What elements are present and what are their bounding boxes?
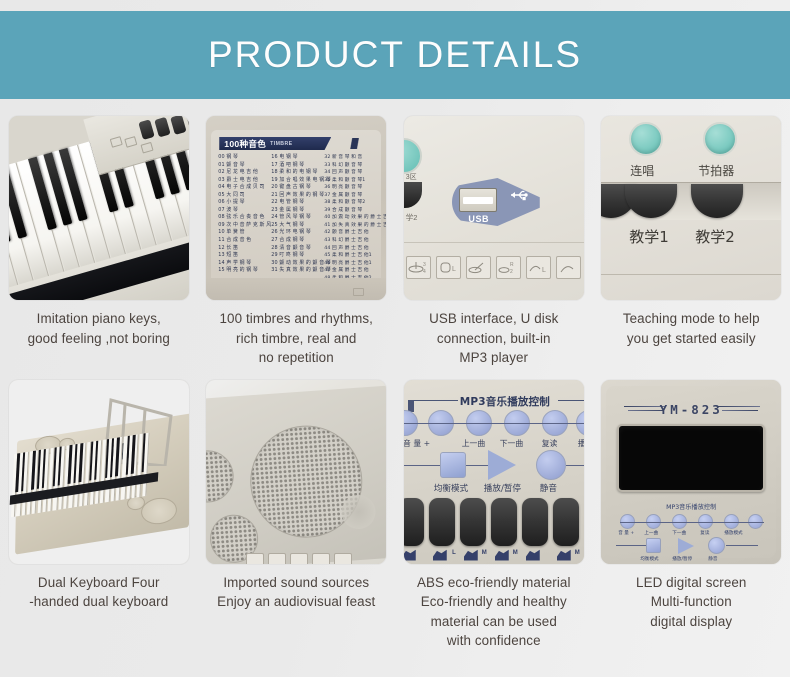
timbre-item: 36 明 亮 颤 音 琴 — [324, 184, 377, 192]
panel-divider — [404, 242, 584, 243]
mp3-eq-button[interactable] — [646, 538, 661, 553]
caption-line: Imitation piano keys, — [6, 309, 192, 329]
instrument-icon-row: 34 L R2 L — [406, 256, 581, 279]
mp3-label-next: 下一曲 — [500, 438, 523, 449]
svg-text:L: L — [542, 267, 546, 274]
detail-card-abs-eco-friendly: MP3音乐播放控制 - 音 量 + 上一曲 下一曲 复读 播 — [395, 380, 593, 651]
detail-card-led-digital-screen: YM-823 MP3音乐播放控制 音 量 + 上一曲 — [593, 380, 790, 651]
mp3-mute-button[interactable] — [708, 537, 725, 554]
svg-text:4: 4 — [423, 269, 426, 275]
timbre-item: 32 新 音 琴 和 音 — [324, 154, 377, 162]
timbre-item: 04 电 子 合 成 贝 司 — [218, 184, 271, 192]
timbre-header-en: TIMBRE — [270, 141, 292, 147]
pad-icon — [404, 548, 426, 563]
instrument-icon: L — [436, 256, 461, 279]
mp3-control-group: 音 量 + 上一曲 下一曲 复读 播放模式 均衡模式 播放/暂停 — [616, 510, 768, 564]
timbre-item: 22 电 管 钢 琴 — [271, 199, 324, 207]
speaker-grille-large — [247, 421, 367, 541]
pad-label-teaching1: 教学1 — [629, 226, 669, 247]
caption-line: rich timbre, real and — [203, 329, 389, 349]
timbre-item: 38 柔 和 颤 音 琴2 — [324, 199, 377, 207]
timbre-item: 28 清 音 颤 音 琴 — [271, 245, 324, 253]
detail-card-imitation-piano-keys: Imitation piano keys, good feeling ,not … — [0, 116, 198, 368]
instrument-icon — [290, 553, 308, 564]
timbre-item: 15 明 亮 的 钢 琴 — [218, 267, 271, 275]
caption-line: Teaching mode to help — [598, 309, 784, 329]
black-pad-row — [404, 498, 579, 546]
panel-icon — [353, 288, 364, 296]
speaker-grille-closeup-photo — [206, 380, 386, 564]
timbre-item: 46 明 亮 爵 士 吉 他1 — [324, 260, 377, 268]
caption-line: connection, built-in — [401, 329, 587, 349]
page-title: PRODUCT DETAILS — [208, 34, 582, 76]
timbre-item: 43 科 幻 爵 士 吉 他 — [324, 237, 377, 245]
black-pad[interactable] — [522, 498, 548, 546]
pad-icon-label: M — [482, 550, 487, 556]
model-number: YM-823 — [606, 402, 776, 417]
mp3-play-pause-button[interactable] — [678, 538, 694, 554]
usb-trident-icon — [508, 188, 530, 202]
mp3-mute-button[interactable] — [536, 450, 566, 480]
detail-card-100-timbres: 100种音色 TIMBRE 00 钢 琴 01 颤 音 琴 02 尼 龙 电 吉… — [198, 116, 396, 368]
product-details-page: PRODUCT DETAILS — [0, 0, 790, 677]
detail-card-imported-sound-sources: Imported sound sources Enjoy an audiovis… — [198, 380, 396, 651]
timbre-item: 11 合 成 音 色 — [218, 237, 271, 245]
timbre-item: 33 科 幻 颤 音 琴 — [324, 162, 377, 170]
card-caption: Imitation piano keys, good feeling ,not … — [6, 309, 192, 348]
timbre-item: 12 长 笛 — [218, 245, 271, 253]
caption-line: MP3 player — [401, 348, 587, 368]
black-pad[interactable] — [429, 498, 455, 546]
pad-icon-label: M — [575, 550, 580, 556]
instrument-icon: 34 — [406, 256, 431, 279]
mp3-eq-button[interactable] — [440, 452, 466, 478]
timbre-column-3: 32 新 音 琴 和 音 33 科 幻 颤 音 琴 34 回 声 颤 音 琴 3… — [324, 154, 377, 282]
mp3-label-eq: 均衡模式 — [640, 556, 658, 562]
card-caption: LED digital screen Multi-function digita… — [598, 573, 784, 632]
knob-label-liangchang: 连唱 — [630, 162, 654, 179]
speaker-panel — [206, 385, 386, 564]
instrument-icon: L — [526, 256, 551, 279]
mp3-label-playmode: 播放模式 — [724, 530, 742, 536]
mp3-label-next: 下一曲 — [672, 530, 686, 536]
pad-icon — [524, 548, 550, 563]
timbre-item: 35 柔 和 颤 音 琴1 — [324, 177, 377, 185]
timbre-item: 37 金 属 颤 音 琴 — [324, 192, 377, 200]
card-caption: 100 timbres and rhythms, rich timbre, re… — [203, 309, 389, 368]
timbre-header-cn: 100种音色 — [224, 138, 266, 150]
pad-icon-label: L — [452, 550, 456, 556]
panel-lower-area — [206, 278, 386, 300]
teaching-mode-buttons-photo: 连唱 节拍器 教学1 教学2 — [601, 116, 781, 300]
mp3-label-eq: 均衡模式 — [434, 482, 468, 494]
usb-label: USB — [458, 214, 500, 224]
caption-line: you get started easily — [598, 329, 784, 349]
mp3-label-prev: 上一曲 — [644, 530, 658, 536]
card-caption: Teaching mode to help you get started ea… — [598, 309, 784, 348]
pad-label-teaching2: 教学2 — [695, 226, 735, 247]
mp3-label-mute: 静音 — [708, 556, 717, 562]
svg-text:L: L — [452, 266, 456, 273]
teal-knob-liangchang — [629, 122, 663, 156]
card-caption: Imported sound sources Enjoy an audiovis… — [203, 573, 389, 612]
caption-line: Eco-friendly and healthy — [401, 592, 587, 612]
pad-icon: M — [462, 548, 488, 563]
timbre-item: 00 钢 琴 — [218, 154, 271, 162]
card-caption: USB interface, U disk connection, built-… — [401, 309, 587, 368]
svg-text:3: 3 — [423, 262, 426, 268]
timbre-item: 44 回 声 爵 士 吉 他 — [324, 245, 377, 253]
timbre-item: 31 失 真 效 果 的 颤 音 琴 — [271, 267, 324, 275]
speaker-grille-medium — [206, 448, 235, 504]
teal-knob-metronome — [703, 122, 737, 156]
instrument-icon-row — [246, 553, 352, 564]
panel-label-left-bottom: 学2 — [406, 212, 418, 223]
svg-text:R: R — [510, 262, 514, 268]
instrument-icon: R2 — [496, 256, 521, 279]
timbre-item: 27 合 成 钢 琴 — [271, 237, 324, 245]
pad-icon: M — [493, 548, 519, 563]
timbre-item: 40 加 震 动 效 果 的 爵 士 吉 — [324, 214, 377, 222]
instrument-icon — [246, 553, 264, 564]
caption-line: USB interface, U disk — [401, 309, 587, 329]
caption-line: ABS eco-friendly material — [401, 573, 587, 593]
pad-icon: M — [555, 548, 581, 563]
timbre-item: 16 电 钢 琴 — [271, 154, 324, 162]
control-face: YM-823 MP3音乐播放控制 音 量 + 上一曲 — [606, 386, 776, 558]
page-header-banner: PRODUCT DETAILS — [0, 11, 790, 99]
timbre-item: 29 叮 咚 钢 琴 — [271, 252, 324, 260]
caption-line: Imported sound sources — [203, 573, 389, 593]
caption-line: no repetition — [203, 348, 389, 368]
timbre-item: 42 颤 音 爵 士 吉 他 — [324, 229, 377, 237]
mp3-label-prev: 上一曲 — [462, 438, 485, 449]
panel-divider — [601, 274, 781, 275]
timbre-column-1: 00 钢 琴 01 颤 音 琴 02 尼 龙 电 吉 他 03 爵 士 电 吉 … — [218, 154, 271, 282]
mp3-label-repeat: 复读 — [700, 530, 709, 536]
mp3-label-volume: - 音 量 + — [404, 438, 430, 449]
grille-center — [341, 493, 377, 529]
timbre-columns: 00 钢 琴 01 颤 音 琴 02 尼 龙 电 吉 他 03 爵 士 电 吉 … — [218, 154, 378, 282]
timbre-item: 24 管 风 琴 钢 琴 — [271, 214, 324, 222]
caption-line: LED digital screen — [598, 573, 784, 593]
usb-port-closeup-photo: 3区 学2 USB — [404, 116, 584, 300]
caption-line: -handed dual keyboard — [6, 592, 192, 612]
mp3-label-play-pause: 播放/暂停 — [672, 556, 692, 562]
black-pad[interactable] — [553, 498, 579, 546]
timbre-item: 47 金 属 爵 士 吉 他 — [324, 267, 377, 275]
black-pad[interactable] — [404, 498, 424, 546]
card-caption: ABS eco-friendly material Eco-friendly a… — [401, 573, 587, 651]
detail-card-dual-keyboard: Dual Keyboard Four -handed dual keyboard — [0, 380, 198, 651]
knob-label-metronome: 节拍器 — [698, 162, 734, 179]
panel-label-left-top: 3区 — [406, 172, 417, 182]
timbre-item: 41 加 失 真 效 果 的 爵 士 吉 — [324, 222, 377, 230]
caption-line: 100 timbres and rhythms, — [203, 309, 389, 329]
timbre-list-chart-photo: 100种音色 TIMBRE 00 钢 琴 01 颤 音 琴 02 尼 龙 电 吉… — [206, 116, 386, 300]
mp3-control-panel-photo: MP3音乐播放控制 - 音 量 + 上一曲 下一曲 复读 播 — [404, 380, 584, 564]
instrument-icon — [334, 553, 352, 564]
led-digital-screen-photo: YM-823 MP3音乐播放控制 音 量 + 上一曲 — [601, 380, 781, 564]
mp3-label-volume: 音 量 + — [618, 530, 634, 536]
card-caption: Dual Keyboard Four -handed dual keyboard — [6, 573, 192, 612]
details-grid: Imitation piano keys, good feeling ,not … — [0, 116, 790, 651]
timbre-item: 20 键 盘 古 钢 琴 — [271, 184, 324, 192]
caption-line: good feeling ,not boring — [6, 329, 192, 349]
timbre-item: 13 短 笛 — [218, 252, 271, 260]
detail-card-usb-interface: 3区 学2 USB — [395, 116, 593, 368]
instrument-icon — [312, 553, 330, 564]
pad-icon-label: M — [513, 550, 518, 556]
header-slash-decor — [335, 138, 375, 149]
caption-line: Dual Keyboard Four — [6, 573, 192, 593]
timbre-item: 26 光 环 电 钢 琴 — [271, 229, 324, 237]
mp3-label-play: 播 — [578, 438, 584, 449]
caption-line: material can be used — [401, 612, 587, 632]
mp3-label-mute: 静音 — [540, 482, 557, 494]
pad-icon: L — [431, 548, 457, 563]
mp3-label-repeat: 复读 — [542, 438, 558, 449]
caption-line: Multi-function — [598, 592, 784, 612]
mp3-play-pause-button[interactable] — [488, 450, 516, 480]
timbre-item: 45 柔 和 爵 士 吉 他1 — [324, 252, 377, 260]
timbre-item: 34 回 声 颤 音 琴 — [324, 169, 377, 177]
timbre-item: 10 单 簧 管 — [218, 229, 271, 237]
instrument-icon — [556, 256, 581, 279]
pad-icon-row: L M M M — [404, 548, 581, 563]
mp3-panel-title: MP3音乐播放控制 — [460, 394, 550, 409]
details-row-1: Imitation piano keys, good feeling ,not … — [0, 116, 790, 368]
timbre-item: 06 小 提 琴 — [218, 199, 271, 207]
black-pad[interactable] — [460, 498, 486, 546]
svg-text:2: 2 — [510, 269, 513, 275]
mp3-label-play-pause: 播放/暂停 — [484, 482, 521, 494]
instrument-icon — [268, 553, 286, 564]
caption-line: Enjoy an audiovisual feast — [203, 592, 389, 612]
detail-card-teaching-mode: 连唱 节拍器 教学1 教学2 Teaching mode to help you… — [593, 116, 790, 368]
timbre-item: 08 弦 乐 合 奏 音 色 — [218, 214, 271, 222]
timbre-chart-sticker: 100种音色 TIMBRE 00 钢 琴 01 颤 音 琴 02 尼 龙 电 吉… — [211, 130, 381, 285]
timbre-item: 17 酒 吧 钢 琴 — [271, 162, 324, 170]
timbre-column-2: 16 电 钢 琴 17 酒 吧 钢 琴 18 柔 和 的 电 钢 琴 19 加 … — [271, 154, 324, 282]
timbre-chart-header: 100种音色 TIMBRE — [219, 137, 331, 150]
piano-keys-closeup-photo — [9, 116, 189, 300]
caption-line: digital display — [598, 612, 784, 632]
caption-line: with confidence — [401, 631, 587, 651]
timbre-item: 18 柔 和 的 电 钢 琴 — [271, 169, 324, 177]
timbre-item: 01 颤 音 琴 — [218, 162, 271, 170]
timbre-item: 39 合 成 颤 音 琴 — [324, 207, 377, 215]
usb-socket — [459, 188, 497, 212]
led-display-screen — [617, 424, 765, 492]
details-row-2: Dual Keyboard Four -handed dual keyboard — [0, 380, 790, 651]
black-pad[interactable] — [491, 498, 517, 546]
full-keyboard-with-music-stand-photo — [9, 380, 189, 564]
timbre-item: 02 尼 龙 电 吉 他 — [218, 169, 271, 177]
instrument-icon — [466, 256, 491, 279]
